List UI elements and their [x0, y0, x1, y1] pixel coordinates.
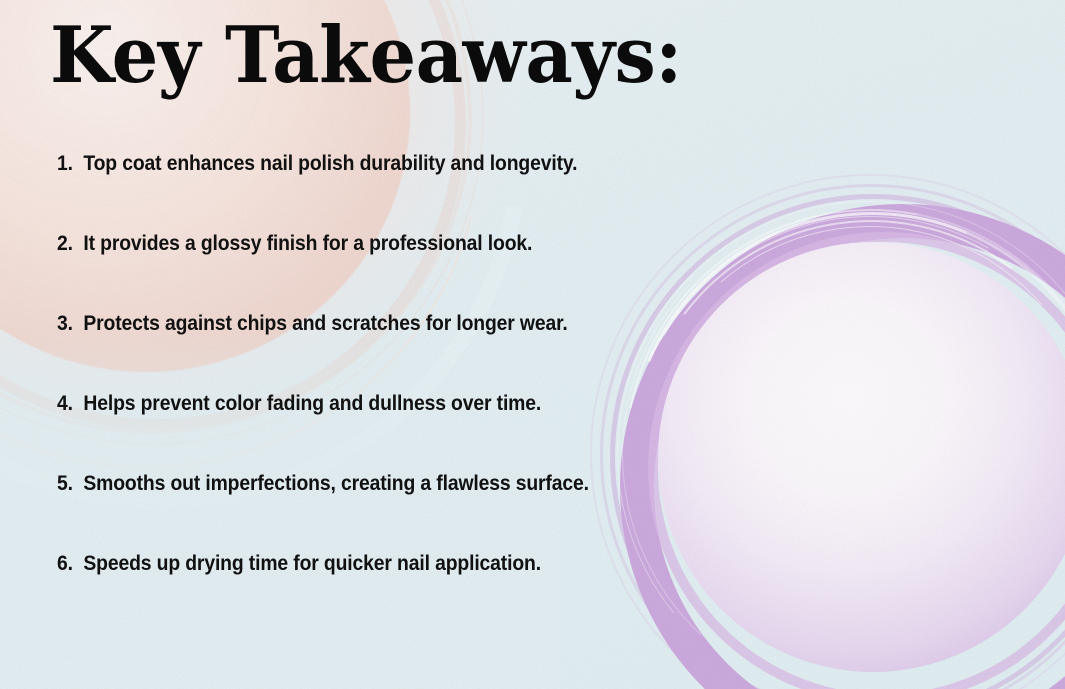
list-item: 1. Top coat enhances nail polish durabil… — [57, 150, 705, 230]
takeaways-list: 1. Top coat enhances nail polish durabil… — [57, 150, 777, 630]
list-item-text: Speeds up drying time for quicker nail a… — [83, 551, 541, 575]
page-title: Key Takeaways: — [50, 14, 682, 98]
list-item-text: Helps prevent color fading and dullness … — [83, 391, 541, 415]
list-item-number: 5. — [57, 471, 78, 495]
list-item-number: 1. — [57, 151, 78, 175]
list-item: 5. Smooths out imperfections, creating a… — [57, 470, 705, 550]
list-item-text: Top coat enhances nail polish durability… — [83, 151, 577, 175]
list-item-number: 6. — [57, 551, 78, 575]
list-item-number: 3. — [57, 311, 78, 335]
list-item: 4. Helps prevent color fading and dullne… — [57, 390, 705, 470]
list-item: 6. Speeds up drying time for quicker nai… — [57, 550, 705, 630]
list-item-number: 4. — [57, 391, 78, 415]
list-item: 3. Protects against chips and scratches … — [57, 310, 705, 390]
key-takeaways-poster: Key Takeaways: 1. Top coat enhances nail… — [0, 0, 1065, 689]
list-item-number: 2. — [57, 231, 78, 255]
list-item-text: Smooths out imperfections, creating a fl… — [83, 471, 589, 495]
list-item-text: Protects against chips and scratches for… — [83, 311, 567, 335]
list-item: 2. It provides a glossy finish for a pro… — [57, 230, 705, 310]
list-item-text: It provides a glossy finish for a profes… — [83, 231, 532, 255]
content-layer: Key Takeaways: 1. Top coat enhances nail… — [0, 0, 1065, 689]
